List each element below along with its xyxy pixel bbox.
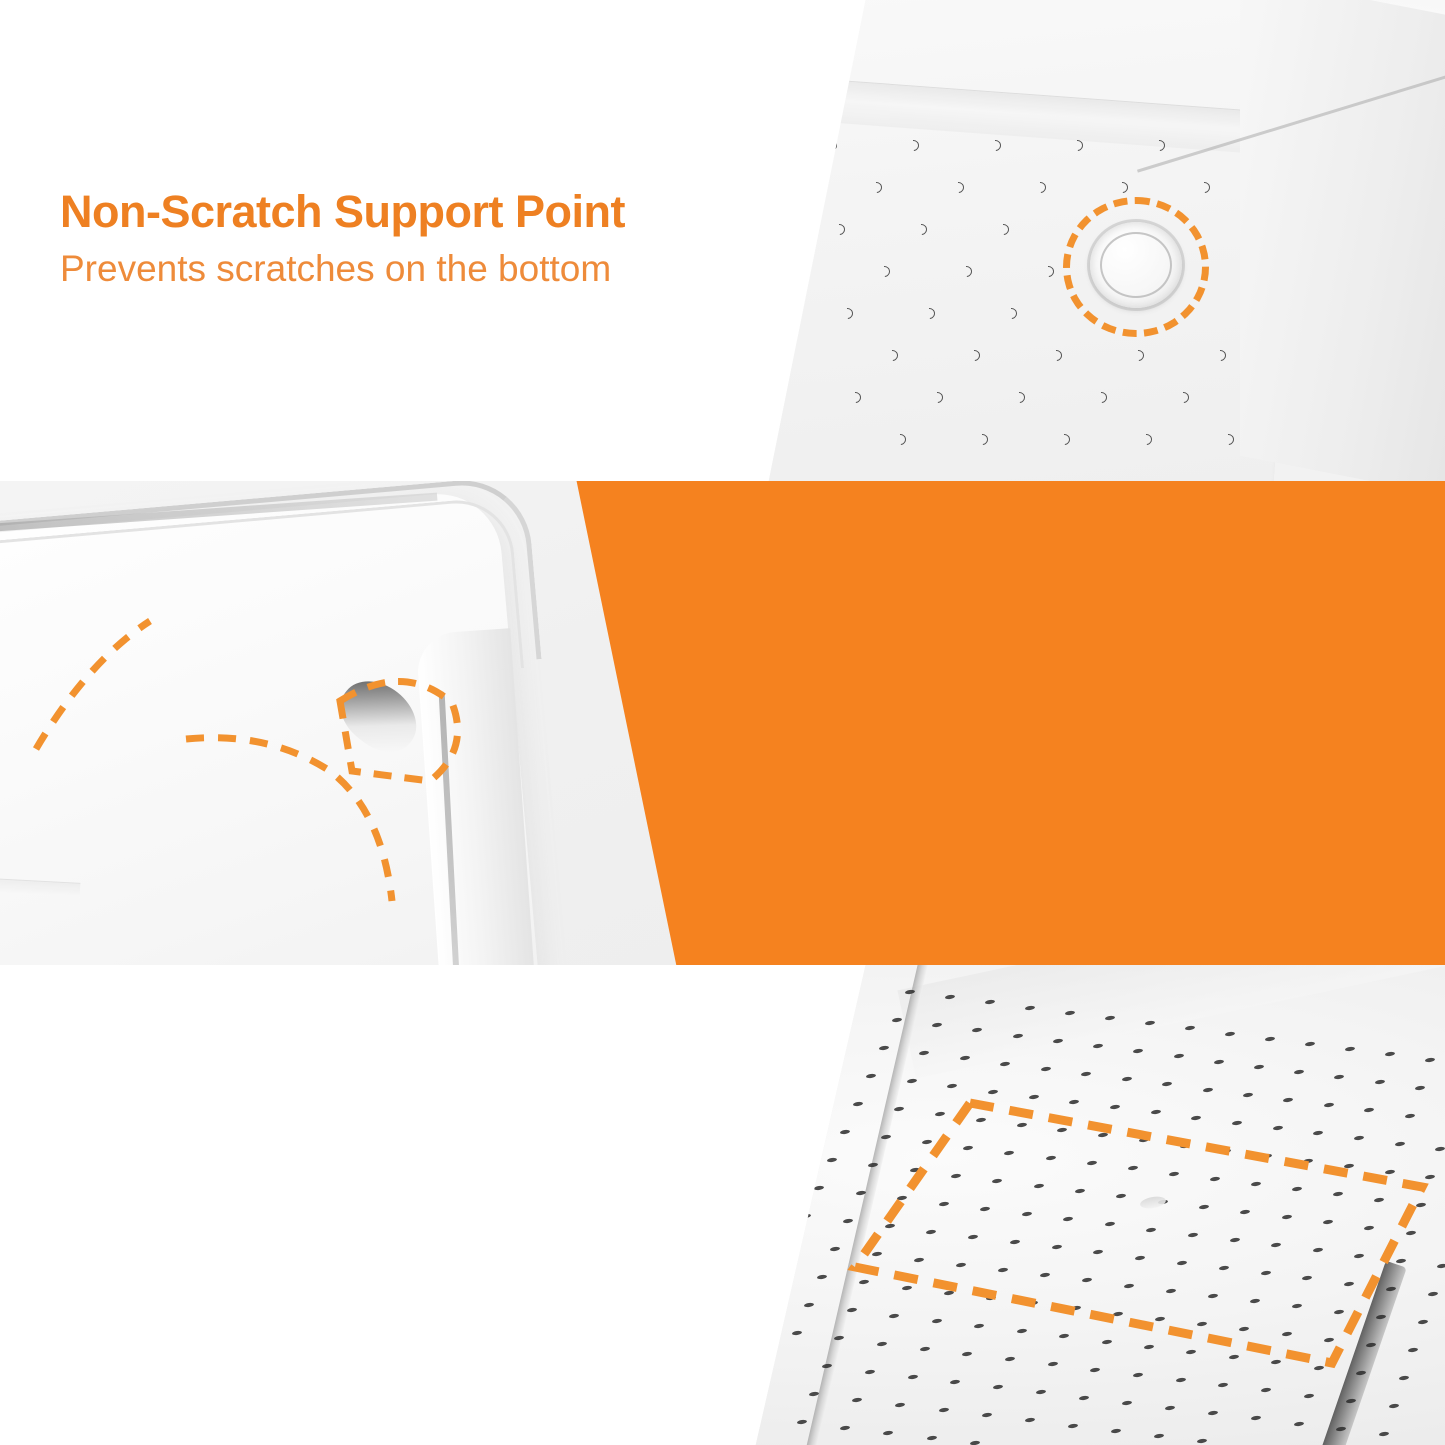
surface-annotation-svg <box>0 965 1445 1445</box>
corner-wedge-dashed-icon <box>340 681 458 781</box>
corner-arc-dashed-icon-a <box>36 621 150 749</box>
product-photo-perforated-tray <box>0 965 1445 1445</box>
support-point-highlight-circle-icon <box>1063 197 1209 337</box>
product-feature-infographic: Non-Scratch Support Point Prevents scrat… <box>0 0 1445 1445</box>
tray-face <box>750 0 1310 481</box>
box-right-wall <box>1240 0 1445 481</box>
corner-arc-dashed-icon <box>186 738 392 901</box>
panel-1-text-block: Non-Scratch Support Point Prevents scrat… <box>60 188 625 291</box>
feature-panel-round-corner: Round Corner Design Will not scratch the… <box>0 481 1445 965</box>
panel-1-title: Non-Scratch Support Point <box>60 188 625 235</box>
feature-panel-support-point: Non-Scratch Support Point Prevents scrat… <box>0 0 1445 481</box>
feature-panel-pet-plastic: PET Plastic ultra-sturdy, so will not cr… <box>0 965 1445 1445</box>
panel-1-subtitle: Prevents scratches on the bottom <box>60 248 625 291</box>
perforated-area-dashed-quad-icon <box>855 1103 1422 1363</box>
